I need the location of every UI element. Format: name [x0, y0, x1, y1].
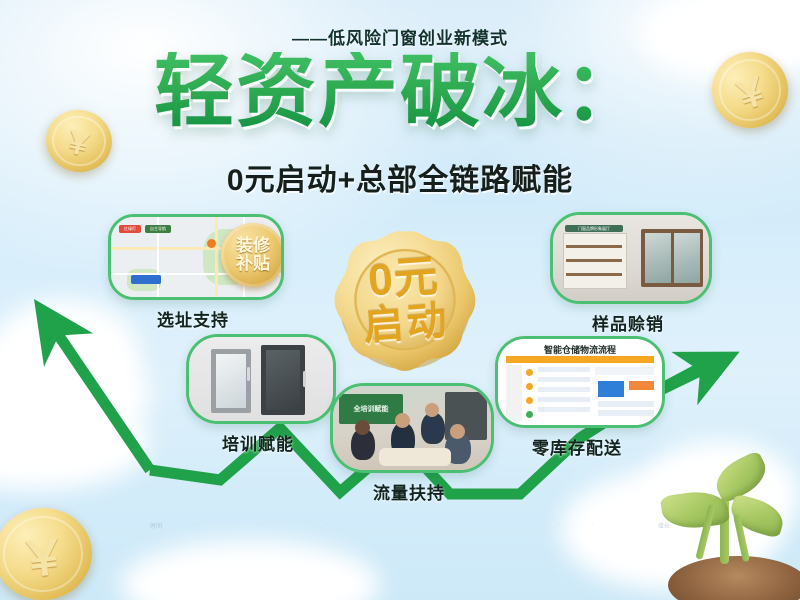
feature-label-site-selection: 选址支持	[108, 306, 278, 331]
tick: ·	[525, 522, 527, 528]
page-subtitle: 0元启动+总部全链路赋能	[0, 155, 800, 199]
meeting-art: 全培训赋能	[333, 386, 491, 470]
feature-label-training: 培训赋能	[186, 430, 330, 455]
tick: ·	[591, 522, 593, 528]
map-chip-1: 红绿灯	[119, 225, 141, 233]
feature-zero-inventory[interactable]: 智能仓储物流流程 零库存配送	[495, 336, 659, 459]
feature-image-dashboard: 智能仓储物流流程	[495, 336, 665, 428]
map-chip-3	[131, 275, 161, 284]
tick: ·	[226, 522, 228, 528]
tick: ·	[558, 522, 560, 528]
feature-label-zero-inventory: 零库存配送	[495, 434, 659, 459]
seal-line2: 启动	[362, 301, 451, 348]
showroom-art: 门窗品牌形象展厅	[553, 215, 709, 301]
seedling-growth-icon	[658, 452, 800, 600]
coin-badge-line1: 装修	[236, 237, 270, 255]
chart-baseline-ticks: 时间 · · · · · · · · · · · · · · 增长	[150, 518, 670, 532]
seal-line1: 0元	[367, 254, 440, 304]
tick: ·	[193, 522, 195, 528]
renovation-subsidy-coin: 装修 补贴	[221, 223, 284, 287]
eyebrow-text: ——低风险门窗创业新模式	[0, 24, 800, 49]
seal-text: 0元 启动	[319, 213, 490, 389]
coin-badge-line2: 补贴	[236, 255, 270, 273]
feature-image-map: 红绿灯 自主导航 装修 补贴	[108, 214, 284, 300]
chart-left-arrow	[55, 330, 150, 470]
feature-training[interactable]: 培训赋能	[186, 334, 330, 455]
dashboard-art: 智能仓储物流流程	[498, 339, 662, 425]
page-title: 轻资产破冰：	[0, 52, 800, 132]
tick: ·	[459, 522, 461, 528]
feature-label-sample-credit: 样品赊销	[550, 310, 706, 335]
feature-site-selection[interactable]: 红绿灯 自主导航 装修 补贴 选址支持	[108, 214, 278, 331]
tick: ·	[492, 522, 494, 528]
map-poi-marker	[207, 239, 216, 248]
tick: ·	[260, 522, 262, 528]
tick: ·	[326, 522, 328, 528]
feature-image-showroom: 门窗品牌形象展厅	[550, 212, 712, 304]
dashboard-title: 智能仓储物流流程	[498, 343, 662, 356]
tick: 时间	[150, 521, 162, 530]
poster-canvas: 时间 · · · · · · · · · · · · · · 增长 ——低风险门…	[0, 0, 800, 600]
showroom-signboard: 门窗品牌形象展厅	[565, 225, 623, 232]
feature-sample-credit[interactable]: 门窗品牌形象展厅 样品赊销	[550, 212, 706, 335]
feature-image-meeting: 全培训赋能	[330, 383, 494, 473]
tick: ·	[426, 522, 428, 528]
map-chip-2: 自主导航	[145, 225, 171, 233]
tick: ·	[392, 522, 394, 528]
feature-traffic-support[interactable]: 全培训赋能 流量扶持	[330, 383, 488, 504]
meeting-banner: 全培训赋能	[339, 394, 403, 424]
doors-art	[189, 337, 333, 421]
zero-cost-startup-seal: 0元 启动	[325, 218, 485, 383]
tick: ·	[293, 522, 295, 528]
tick: ·	[359, 522, 361, 528]
feature-label-traffic-support: 流量扶持	[330, 479, 488, 504]
feature-image-doors	[186, 334, 336, 424]
tick: ·	[625, 522, 627, 528]
